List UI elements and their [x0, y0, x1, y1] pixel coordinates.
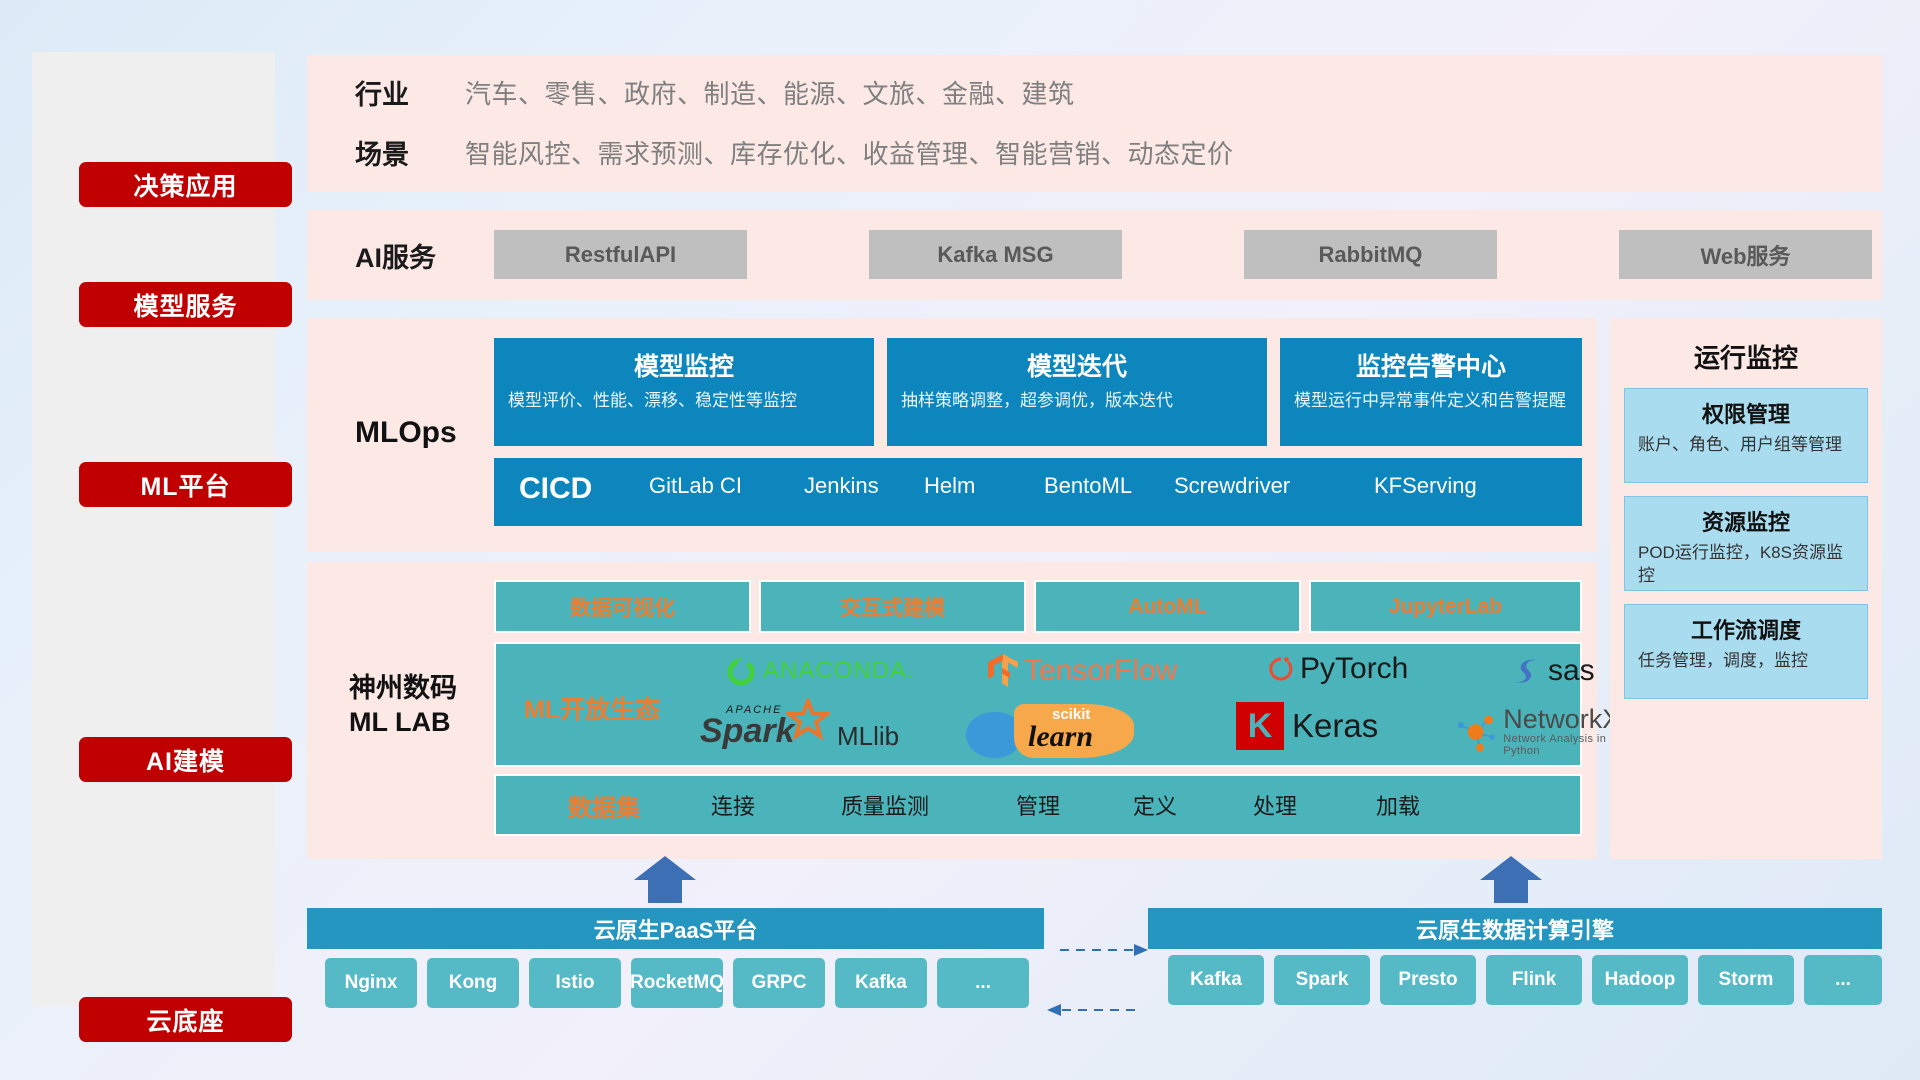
- chip-istio[interactable]: Istio: [529, 958, 621, 1008]
- chip-label: Storm: [1719, 970, 1774, 991]
- rail-item-decision-app[interactable]: 决策应用: [79, 162, 292, 207]
- cicd-tool-label: Screwdriver: [1174, 473, 1290, 498]
- chip-label: Hadoop: [1605, 970, 1676, 991]
- networkx-logo: NetworkX Network Analysis in Python: [1454, 706, 1627, 757]
- chip-label: RocketMQ: [630, 973, 724, 994]
- chip-label: Flink: [1512, 970, 1556, 991]
- mlops-card-model-iteration[interactable]: 模型迭代 抽样策略调整，超参调优，版本迭代: [887, 338, 1267, 446]
- dataset-row: 数据集 连接 质量监测 管理 定义 处理 加载: [494, 774, 1582, 836]
- industry-label: 行业: [355, 73, 465, 112]
- chip-label: GRPC: [752, 973, 807, 994]
- cicd-tool-label: BentoML: [1044, 473, 1132, 498]
- chip-label: Spark: [1296, 970, 1349, 991]
- pytorch-logo: PyTorch: [1266, 652, 1408, 686]
- cicd-title: CICD: [519, 472, 592, 506]
- ml-lab-label-line1: 神州数码: [349, 673, 457, 703]
- card-title: 监控告警中心: [1294, 347, 1568, 383]
- service-box-rabbitmq[interactable]: RabbitMQ: [1244, 230, 1497, 279]
- card-desc: POD运行监控，K8S资源监控: [1638, 542, 1854, 588]
- service-box-restfulapi[interactable]: RestfulAPI: [494, 230, 747, 279]
- ml-lab-label-line2: ML LAB: [349, 707, 451, 737]
- modeling-tool-data-visualization[interactable]: 数据可视化: [494, 580, 751, 633]
- card-desc: 账户、角色、用户组等管理: [1638, 434, 1854, 457]
- tool-label: 数据可视化: [570, 592, 675, 622]
- service-box-web-service[interactable]: Web服务: [1619, 230, 1872, 279]
- chip-label: Kafka: [855, 973, 907, 994]
- keras-mark-letter: K: [1248, 707, 1273, 746]
- service-label: RabbitMQ: [1319, 242, 1423, 268]
- card-desc: 任务管理，调度，监控: [1638, 650, 1854, 673]
- rail-item-cloud-base[interactable]: 云底座: [79, 997, 292, 1042]
- cicd-tool-jenkins[interactable]: Jenkins: [804, 474, 914, 499]
- dataset-label: 数据集: [568, 788, 640, 823]
- spark-mllib-logo: APACHE Spark MLlib: [698, 702, 899, 758]
- ml-ecosystem-box: ML开放生态 ANACONDA. TensorFlow: [494, 642, 1582, 767]
- anaconda-logo: ANACONDA.: [724, 654, 915, 688]
- chip-hadoop[interactable]: Hadoop: [1592, 955, 1688, 1005]
- keras-logo: K Keras: [1236, 702, 1378, 750]
- ai-service-label: AI服务: [355, 236, 436, 275]
- tensorflow-logo: TensorFlow: [986, 652, 1177, 690]
- sas-icon: [1511, 655, 1547, 687]
- keras-wordmark: Keras: [1292, 707, 1378, 745]
- card-title: 资源监控: [1638, 505, 1854, 537]
- rail-item-ai-modeling[interactable]: AI建模: [79, 737, 292, 782]
- chip-label: ...: [975, 973, 991, 994]
- mllib-wordmark: MLlib: [837, 721, 899, 752]
- learn-wordmark: learn: [1028, 720, 1093, 754]
- networkx-tagline: Network Analysis in Python: [1503, 733, 1627, 757]
- rail-item-model-service[interactable]: 模型服务: [79, 282, 292, 327]
- cicd-tool-label: Helm: [924, 473, 975, 498]
- dataset-item-manage[interactable]: 管理: [1016, 789, 1060, 821]
- chip-label: Kong: [449, 973, 498, 994]
- chip-label: Nginx: [345, 973, 398, 994]
- monitoring-header: 运行监控: [1610, 338, 1882, 375]
- rail-label: 模型服务: [133, 287, 237, 323]
- scikit-learn-logo: scikit learn: [966, 704, 1141, 760]
- chip-label: Kafka: [1190, 970, 1242, 991]
- arrow-up-right-icon: [1480, 856, 1542, 903]
- card-title: 模型监控: [508, 347, 860, 383]
- cicd-tool-label: KFServing: [1374, 473, 1477, 498]
- modeling-tool-jupyterlab[interactable]: JupyterLab: [1309, 580, 1582, 633]
- industry-row: 行业 汽车、零售、政府、制造、能源、文旅、金融、建筑: [307, 73, 1075, 112]
- service-label: RestfulAPI: [565, 242, 676, 268]
- networkx-icon: [1454, 708, 1497, 756]
- scene-row: 场景 智能风控、需求预测、库存优化、收益管理、智能营销、动态定价: [307, 133, 1234, 172]
- chip-more-left[interactable]: ...: [937, 958, 1029, 1008]
- scene-label: 场景: [355, 133, 465, 172]
- dataset-item-connect[interactable]: 连接: [711, 789, 755, 821]
- cicd-tool-gitlab-ci[interactable]: GitLab CI: [649, 474, 759, 499]
- monitoring-card-workflow[interactable]: 工作流调度 任务管理，调度，监控: [1624, 604, 1868, 699]
- card-title: 工作流调度: [1638, 613, 1854, 645]
- chip-flink[interactable]: Flink: [1486, 955, 1582, 1005]
- spark-wordmark: Spark: [700, 712, 795, 751]
- tensorflow-wordmark: TensorFlow: [1024, 654, 1177, 688]
- card-desc: 抽样策略调整，超参调优，版本迭代: [901, 390, 1253, 412]
- rail-item-ml-platform[interactable]: ML平台: [79, 462, 292, 507]
- chip-storm[interactable]: Storm: [1698, 955, 1794, 1005]
- cicd-tool-kfserving[interactable]: KFServing: [1374, 474, 1484, 499]
- chip-nginx[interactable]: Nginx: [325, 958, 417, 1008]
- ml-lab-label: 神州数码 ML LAB: [349, 672, 457, 740]
- pytorch-icon: [1266, 652, 1296, 686]
- modeling-tool-interactive-modeling[interactable]: 交互式建模: [759, 580, 1026, 633]
- tensorflow-icon: [986, 652, 1020, 690]
- rail-label: 决策应用: [133, 167, 237, 203]
- card-title: 权限管理: [1638, 397, 1854, 429]
- dataset-item-process[interactable]: 处理: [1253, 789, 1297, 821]
- dataset-item-define[interactable]: 定义: [1133, 789, 1177, 821]
- modeling-tool-automl[interactable]: AutoML: [1034, 580, 1301, 633]
- chip-more-right[interactable]: ...: [1804, 955, 1882, 1005]
- monitoring-card-permission[interactable]: 权限管理 账户、角色、用户组等管理: [1624, 388, 1868, 483]
- cicd-tool-label: Jenkins: [804, 473, 879, 498]
- application-layer-panel: 行业 汽车、零售、政府、制造、能源、文旅、金融、建筑 场景 智能风控、需求预测、…: [307, 55, 1882, 192]
- chip-kafka-left[interactable]: Kafka: [835, 958, 927, 1008]
- card-title: 模型迭代: [901, 347, 1253, 383]
- keras-mark-icon: K: [1236, 702, 1284, 750]
- rail-label: ML平台: [140, 467, 230, 503]
- arrow-up-left-icon: [634, 856, 696, 903]
- industry-value: 汽车、零售、政府、制造、能源、文旅、金融、建筑: [465, 74, 1075, 111]
- ecosystem-label: ML开放生态: [524, 690, 660, 726]
- pytorch-wordmark: PyTorch: [1300, 652, 1408, 686]
- mlops-card-model-monitoring[interactable]: 模型监控 模型评价、性能、漂移、稳定性等监控: [494, 338, 874, 446]
- service-box-kafka-msg[interactable]: Kafka MSG: [869, 230, 1122, 279]
- dashed-arrowhead-left-icon: [1047, 1004, 1061, 1016]
- spark-star-icon: [786, 698, 830, 742]
- dataset-item-quality-monitor[interactable]: 质量监测: [841, 789, 929, 821]
- chip-kong[interactable]: Kong: [427, 958, 519, 1008]
- tool-label: JupyterLab: [1389, 595, 1502, 619]
- tool-label: 交互式建模: [840, 592, 945, 622]
- chip-presto[interactable]: Presto: [1380, 955, 1476, 1005]
- ai-service-panel: AI服务 RestfulAPI Kafka MSG RabbitMQ Web服务: [307, 210, 1882, 300]
- monitoring-card-resource[interactable]: 资源监控 POD运行监控，K8S资源监控: [1624, 496, 1868, 591]
- chip-rocketmq[interactable]: RocketMQ: [631, 958, 723, 1008]
- architecture-diagram: 决策应用 模型服务 ML平台 AI建模 云底座 行业 汽车、零售、政府、制造、能…: [0, 0, 1920, 1080]
- mlops-panel: MLOps 模型监控 模型评价、性能、漂移、稳定性等监控 模型迭代 抽样策略调整…: [307, 318, 1597, 552]
- networkx-wordmark: NetworkX: [1503, 706, 1627, 733]
- chip-spark[interactable]: Spark: [1274, 955, 1370, 1005]
- dataset-item-load[interactable]: 加载: [1376, 789, 1420, 821]
- service-label: Web服务: [1700, 239, 1790, 271]
- anaconda-icon: [724, 654, 758, 688]
- chip-label: Presto: [1398, 970, 1457, 991]
- cicd-tool-helm[interactable]: Helm: [924, 474, 1034, 499]
- chip-grpc[interactable]: GRPC: [733, 958, 825, 1008]
- cicd-tool-screwdriver[interactable]: Screwdriver: [1174, 474, 1284, 499]
- rail-label: 云底座: [146, 1002, 224, 1038]
- chip-kafka-right[interactable]: Kafka: [1168, 955, 1264, 1005]
- cicd-tool-label: GitLab CI: [649, 473, 742, 498]
- mlops-label: MLOps: [355, 416, 457, 450]
- sas-wordmark: sas: [1548, 654, 1595, 688]
- service-label: Kafka MSG: [937, 242, 1053, 268]
- sas-logo: sas: [1511, 654, 1595, 688]
- cloud-bar-paas: 云原生PaaS平台: [307, 908, 1044, 949]
- ai-modeling-panel: 神州数码 ML LAB 数据可视化 交互式建模 AutoML JupyterLa…: [307, 562, 1597, 859]
- card-desc: 模型评价、性能、漂移、稳定性等监控: [508, 390, 860, 412]
- card-desc: 模型运行中异常事件定义和告警提醒: [1294, 390, 1568, 412]
- chip-label: Istio: [555, 973, 594, 994]
- cloud-bar-data-engine: 云原生数据计算引擎: [1148, 908, 1882, 949]
- cloud-bar-label: 云原生数据计算引擎: [1416, 913, 1614, 945]
- dashed-arrowhead-right-icon: [1134, 944, 1148, 956]
- mlops-card-alert-center[interactable]: 监控告警中心 模型运行中异常事件定义和告警提醒: [1280, 338, 1582, 446]
- chip-label: ...: [1835, 970, 1851, 991]
- anaconda-wordmark: ANACONDA.: [763, 657, 915, 685]
- monitoring-panel: 运行监控 权限管理 账户、角色、用户组等管理 资源监控 POD运行监控，K8S资…: [1610, 318, 1882, 859]
- rail-label: AI建模: [146, 742, 225, 778]
- cicd-tool-bentoml[interactable]: BentoML: [1044, 474, 1154, 499]
- tool-label: AutoML: [1128, 595, 1206, 619]
- scene-value: 智能风控、需求预测、库存优化、收益管理、智能营销、动态定价: [465, 134, 1234, 171]
- cicd-strip: CICD GitLab CI Jenkins Helm BentoML Scre…: [494, 458, 1582, 526]
- cloud-bar-label: 云原生PaaS平台: [594, 913, 758, 945]
- layer-rail: 决策应用 模型服务 ML平台 AI建模 云底座: [32, 52, 275, 1007]
